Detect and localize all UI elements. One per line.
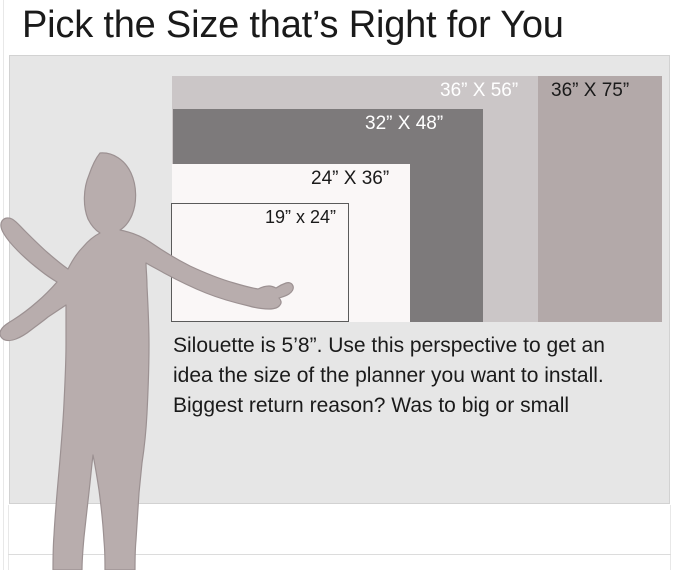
description-line-2: idea the size of the planner you want to…	[173, 361, 663, 391]
frame-line-left-lower	[8, 505, 9, 570]
page-title: Pick the Size that’s Right for You	[22, 1, 662, 49]
description-text: Silouette is 5’8”. Use this perspective …	[173, 331, 663, 421]
size-comparison-panel: 36” X 75” 36” X 56” 32” X 48” 24” X 36” …	[9, 55, 670, 504]
size-label-19x24: 19” x 24”	[265, 207, 336, 228]
description-line-3: Biggest return reason? Was to big or sma…	[173, 391, 663, 421]
frame-line-bottom	[8, 554, 671, 555]
size-label-24x36: 24” X 36”	[311, 168, 389, 190]
size-rect-36x75[interactable]	[538, 76, 662, 322]
description-line-1: Silouette is 5’8”. Use this perspective …	[173, 331, 663, 361]
frame-line-left-outer	[3, 0, 4, 570]
size-label-36x75: 36” X 75”	[551, 80, 629, 102]
size-label-36x56: 36” X 56”	[440, 80, 518, 102]
frame-line-right-lower	[670, 505, 671, 570]
poster-canvas: Pick the Size that’s Right for You 36” X…	[0, 0, 679, 570]
size-label-32x48: 32” X 48”	[365, 113, 443, 135]
